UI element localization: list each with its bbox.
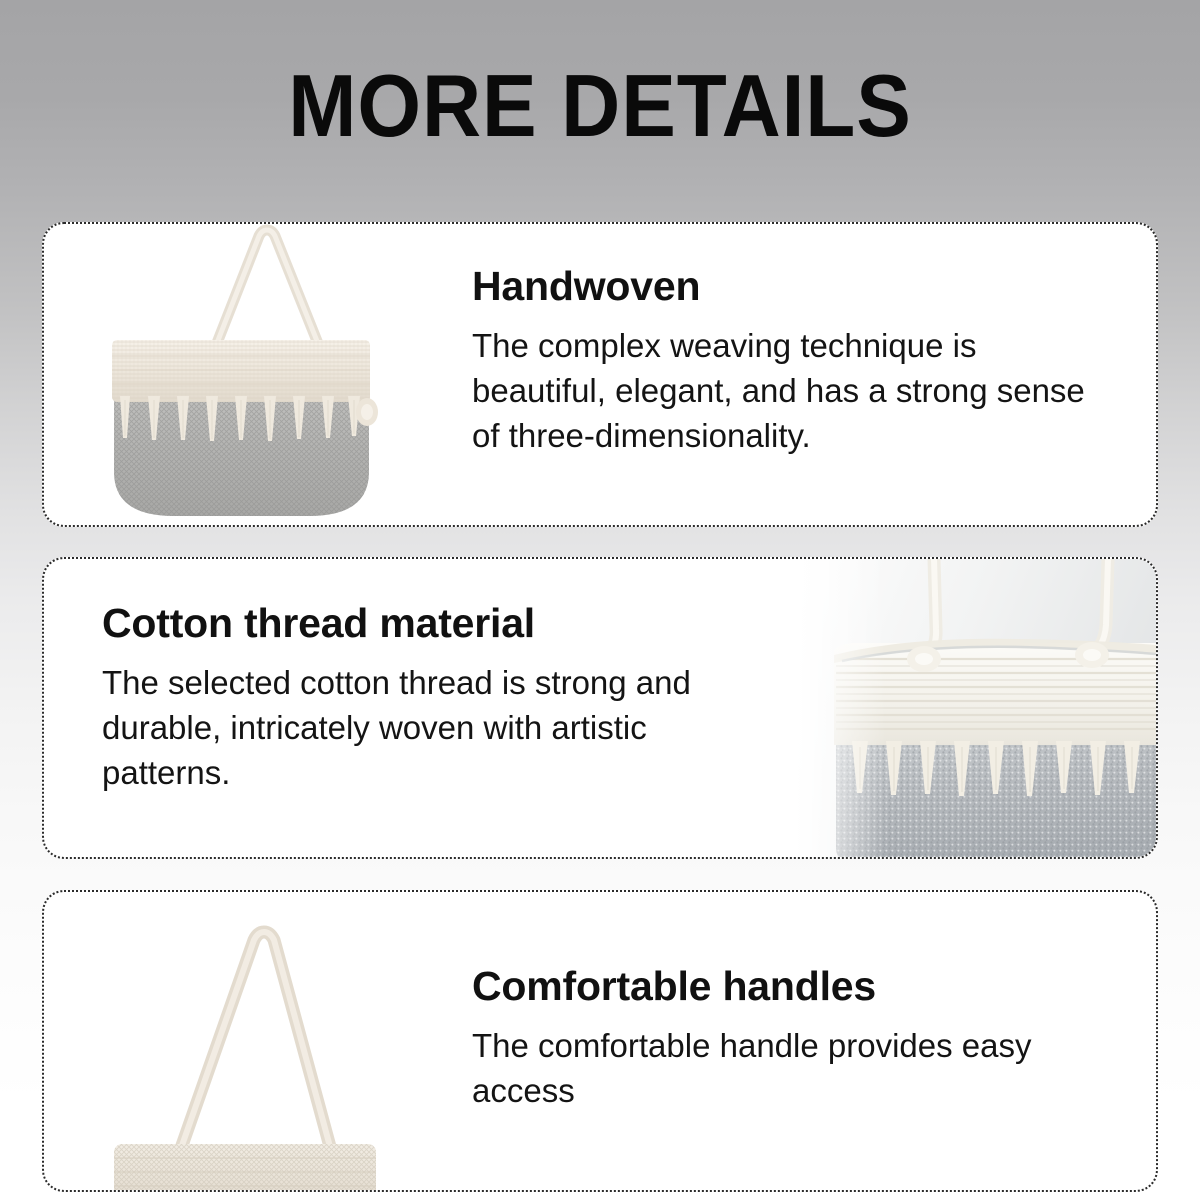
feature-card-comfortable-handles: Comfortable handles The comfortable hand… (42, 890, 1158, 1192)
page-title: MORE DETAILS (42, 62, 1158, 150)
card-body: The comfortable handle provides easy acc… (472, 1024, 1112, 1114)
woven-bag-handle-view-image (84, 892, 464, 1192)
card-body: The selected cotton thread is strong and… (102, 661, 782, 796)
woven-tote-bag-full-view-image (84, 224, 464, 527)
feature-card-cotton-thread-material: Cotton thread material The selected cott… (42, 557, 1158, 859)
card-heading: Comfortable handles (472, 964, 1112, 1010)
feature-card-handwoven: Handwoven The complex weaving technique … (42, 222, 1158, 527)
card-heading: Cotton thread material (102, 601, 782, 647)
page-title-container: MORE DETAILS (0, 62, 1200, 150)
feature-text-cotton-thread-material: Cotton thread material The selected cott… (102, 601, 782, 796)
woven-basket-rope-closeup-image (756, 559, 1156, 859)
image-fade-overlay (756, 559, 886, 859)
card-heading: Handwoven (472, 264, 1112, 310)
feature-text-handwoven: Handwoven The complex weaving technique … (472, 264, 1112, 459)
card-body: The complex weaving technique is beautif… (472, 324, 1112, 459)
feature-text-comfortable-handles: Comfortable handles The comfortable hand… (472, 964, 1112, 1114)
